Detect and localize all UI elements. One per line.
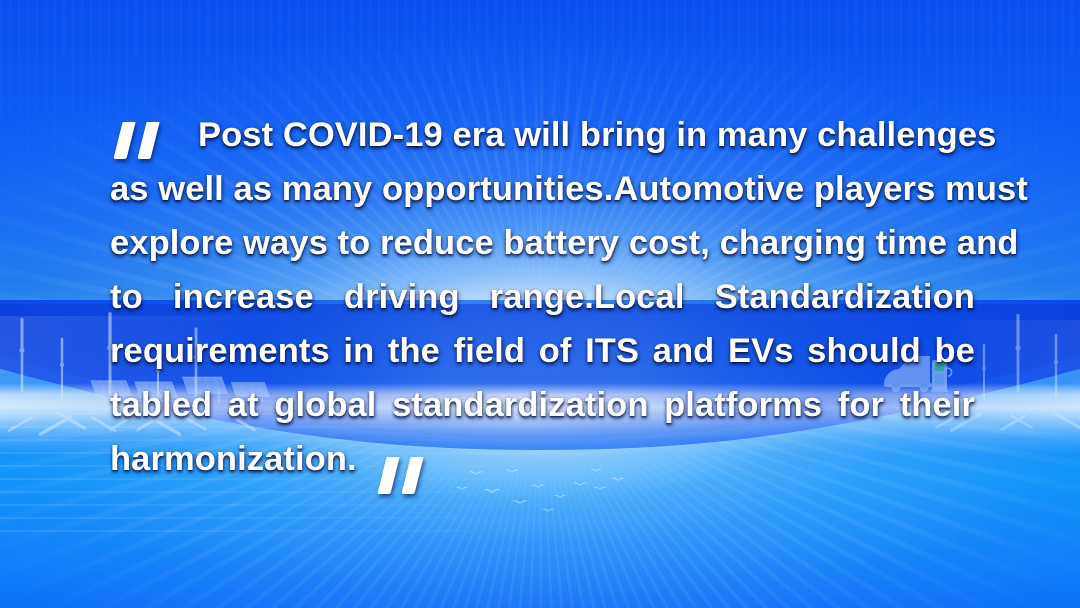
- quote-word: should: [807, 324, 921, 378]
- quote-line-3: explore ways to reduce battery cost, cha…: [110, 216, 975, 270]
- quote-line-1: Post COVID-19 era will bring in many cha…: [110, 108, 975, 162]
- quote-word: increase: [173, 270, 314, 324]
- quote-word: field: [454, 324, 525, 378]
- quote-line-7: harmonization.: [110, 432, 975, 486]
- quote-word: requirements: [110, 324, 330, 378]
- quote-word: tabled: [110, 378, 212, 432]
- quote-word: be: [934, 324, 974, 378]
- quote-word: at: [228, 378, 259, 432]
- closing-quotation-mark-icon: [382, 457, 419, 499]
- quote-word: ITS: [585, 324, 639, 378]
- quote-word: their: [900, 378, 975, 432]
- quote-word: in: [343, 324, 374, 378]
- quote-word: driving: [344, 270, 460, 324]
- quote-line-2: as well as many opportunities.Automotive…: [110, 162, 975, 216]
- quote-word: EVs: [728, 324, 794, 378]
- quote-word: and: [653, 324, 715, 378]
- quote-word: global: [274, 378, 376, 432]
- opening-quotation-mark-icon: [118, 122, 155, 164]
- quote-line-4: toincreasedrivingrange.LocalStandardizat…: [110, 270, 975, 324]
- quote-word: for: [838, 378, 884, 432]
- quote-word: the: [388, 324, 440, 378]
- quote-word: platforms: [664, 378, 822, 432]
- quote-word: standardization: [392, 378, 648, 432]
- quote-line-5: requirementsinthefieldofITSandEVsshouldb…: [110, 324, 975, 378]
- quote-word: range.Local: [490, 270, 685, 324]
- quote-word: Standardization: [715, 270, 975, 324]
- quote-block: Post COVID-19 era will bring in many cha…: [110, 108, 975, 486]
- quote-line-6: tabledatglobalstandardizationplatformsfo…: [110, 378, 975, 432]
- quote-word: of: [539, 324, 572, 378]
- quote-slide: Post COVID-19 era will bring in many cha…: [0, 0, 1080, 608]
- quote-word: to: [110, 270, 143, 324]
